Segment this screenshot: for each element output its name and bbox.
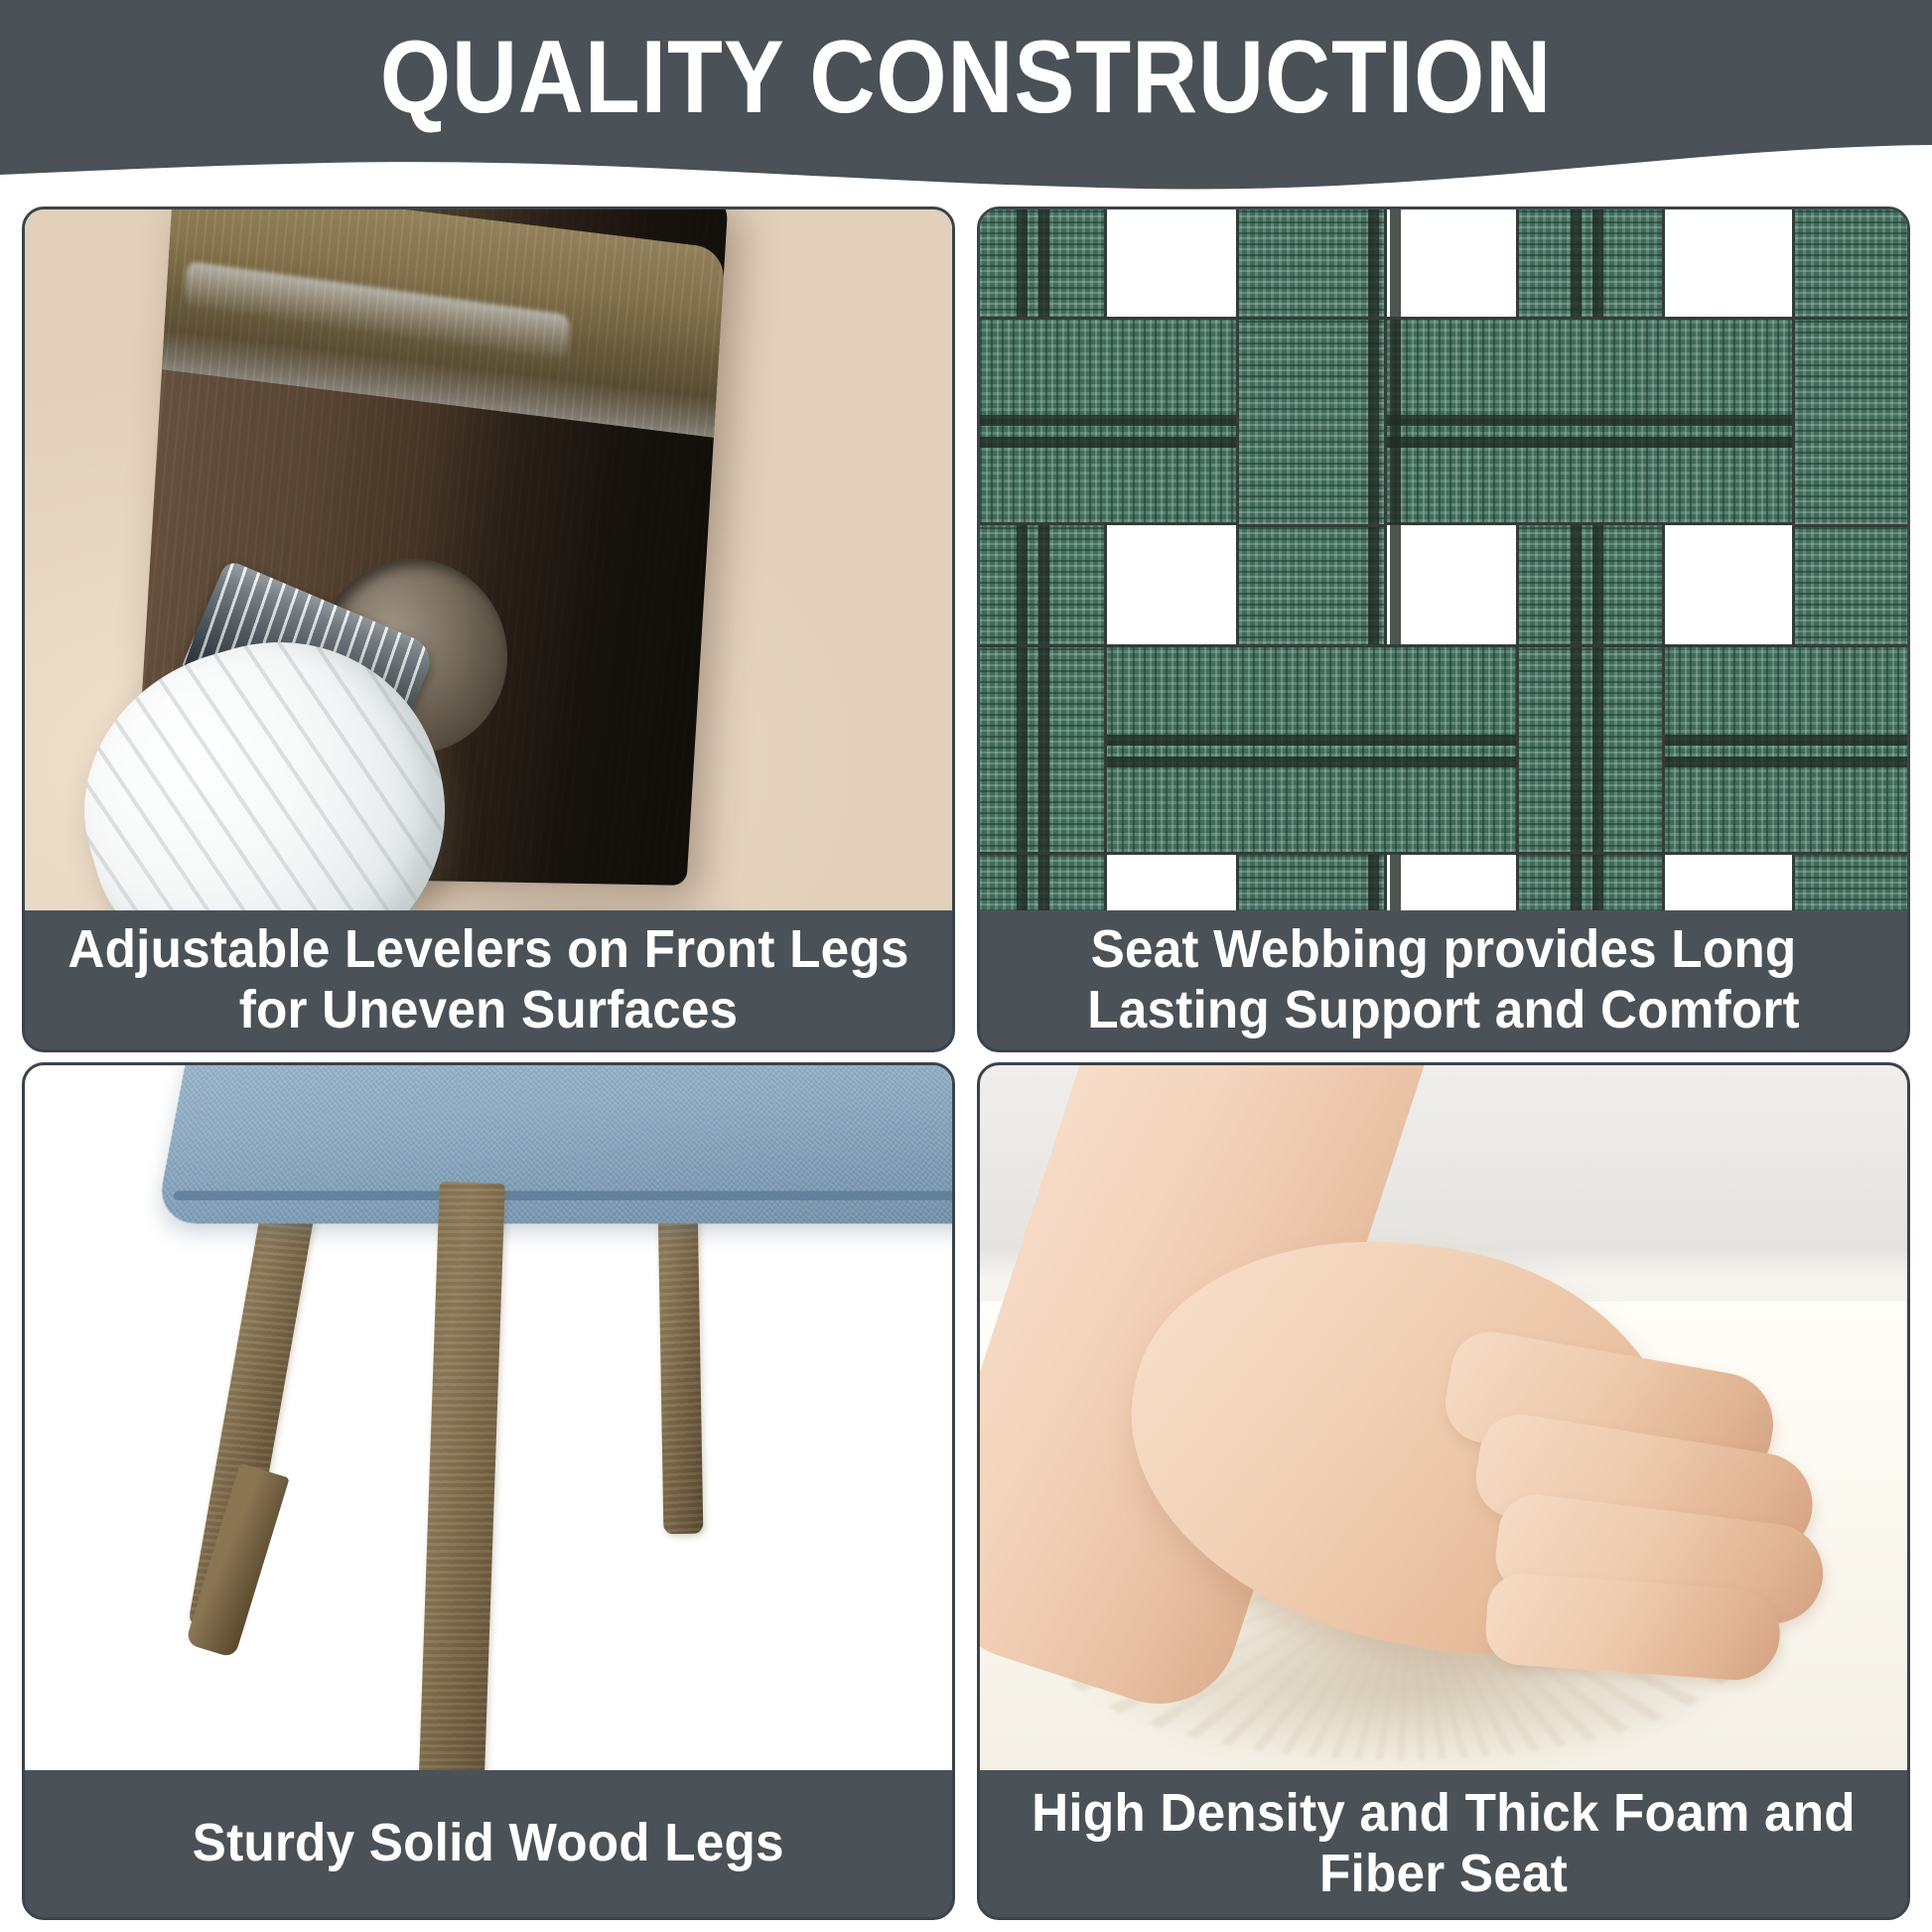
panel-foam-seat[interactable]: High Density and Thick Foam and Fiber Se… [977,1062,1910,1920]
panel-wood-legs[interactable]: Sturdy Solid Wood Legs [22,1062,955,1920]
chair-leg-front [412,1181,505,1776]
webbing-strap-vertical-over-3 [1516,644,1665,855]
leveler-photo-scene [25,209,952,916]
caption-seat-webbing: Seat Webbing provides Long Lasting Suppo… [980,910,1907,1049]
caption-levelers-text: Adjustable Levelers on Front Legs for Un… [62,919,916,1040]
header-banner: QUALITY CONSTRUCTION [0,0,1932,199]
webbing-strap-horizontal-0 [980,317,1907,525]
wood-legs-photo [25,1065,952,1776]
caption-seat-webbing-text: Seat Webbing provides Long Lasting Suppo… [1017,919,1871,1040]
webbing-dark-band [1368,320,1379,524]
webbing-dark-band [980,735,1907,746]
seat-welt-piping [173,1190,952,1200]
panel-seat-webbing[interactable]: Seat Webbing provides Long Lasting Suppo… [977,207,1910,1052]
infographic-page: QUALITY CONSTRUCTION [0,0,1932,1932]
webbing-weave [980,209,1907,916]
webbing-strap-vertical-over-0 [1236,317,1387,527]
feature-grid: Adjustable Levelers on Front Legs for Un… [22,207,1910,1920]
caption-wood-legs-text: Sturdy Solid Wood Legs [193,1813,784,1873]
webbing-dark-band [980,415,1907,426]
foam-seat-photo [980,1065,1907,1776]
caption-wood-legs: Sturdy Solid Wood Legs [25,1770,952,1917]
webbing-strap-horizontal-1 [980,644,1907,855]
page-title: QUALITY CONSTRUCTION [116,26,1816,129]
webbing-dark-band [1571,647,1582,852]
wood-legs-scene [25,1065,952,1776]
levelers-photo [25,209,952,916]
webbing-dark-band [980,757,1907,767]
caption-foam-seat: High Density and Thick Foam and Fiber Se… [980,1770,1907,1917]
seat-webbing-photo [980,209,1907,916]
webbing-dark-band [1592,647,1603,852]
caption-foam-seat-text: High Density and Thick Foam and Fiber Se… [1017,1783,1871,1904]
webbing-dark-band [1038,647,1049,852]
webbing-dark-band [1017,647,1028,852]
webbing-dark-band [1390,320,1401,524]
webbing-strap-vertical-over-2 [980,644,1107,855]
caption-levelers: Adjustable Levelers on Front Legs for Un… [25,910,952,1049]
foam-scene [980,1065,1907,1776]
webbing-strap-vertical-over-1 [1792,317,1907,527]
panel-levelers[interactable]: Adjustable Levelers on Front Legs for Un… [22,207,955,1052]
webbing-dark-band [980,437,1907,448]
